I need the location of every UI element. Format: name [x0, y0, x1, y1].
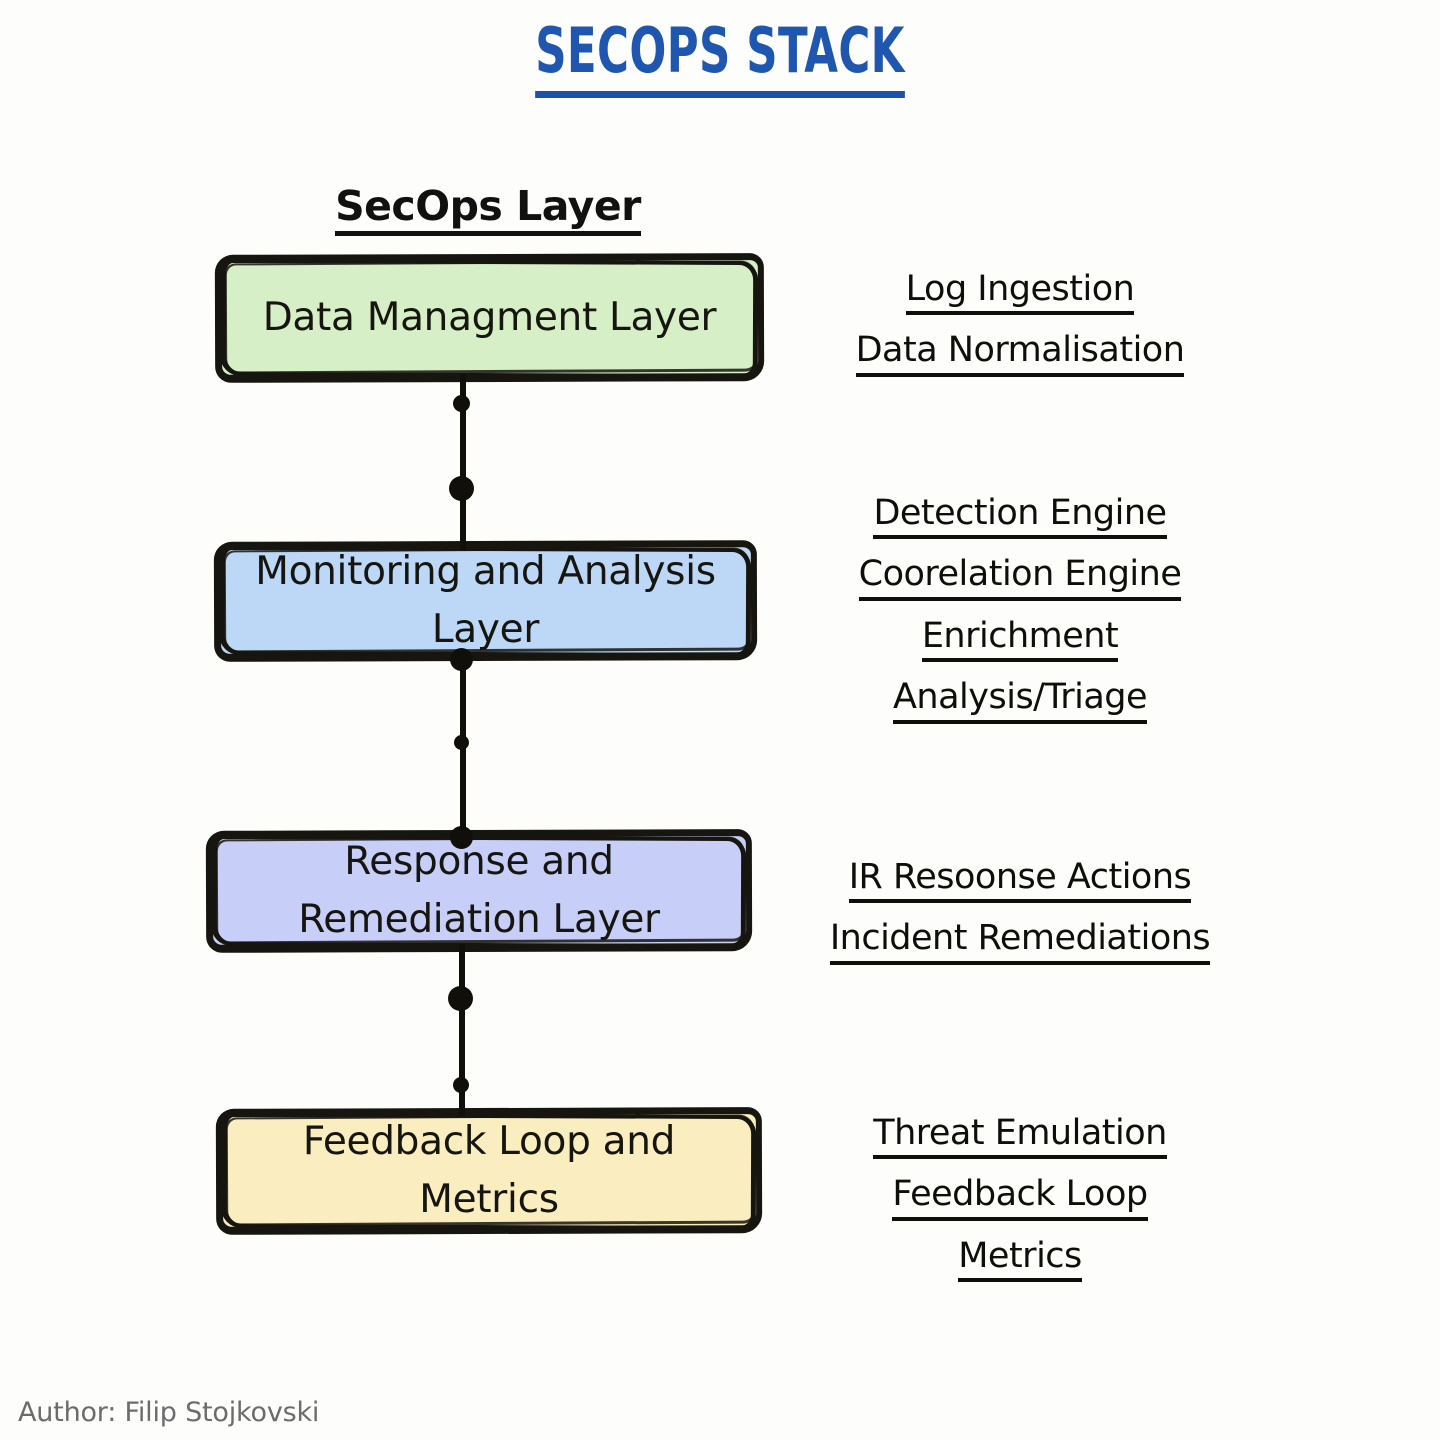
node-feedback-loop-and-metrics[interactable]: Feedback Loop and Metrics [220, 1112, 758, 1230]
column-heading: SecOps Layer [213, 182, 763, 236]
node-response-and-remediation-layer[interactable]: Response and Remediation Layer [210, 834, 748, 948]
diagram-canvas: SECOPS STACK SecOps Layer Data Managment… [0, 0, 1440, 1440]
capability-group-feedback-metrics: Threat Emulation Feedback Loop Metrics [820, 1112, 1220, 1282]
node-monitoring-and-analysis-layer[interactable]: Monitoring and Analysis Layer [218, 545, 753, 657]
capability-item: Metrics [958, 1235, 1082, 1282]
capability-item: Feedback Loop [892, 1173, 1147, 1220]
column-heading-text: SecOps Layer [335, 182, 641, 236]
node-data-management-layer[interactable]: Data Managment Layer [219, 258, 760, 378]
capability-item: Enrichment [922, 615, 1118, 662]
capability-group-data-management: Log Ingestion Data Normalisation [820, 268, 1220, 377]
connector-dot [453, 395, 470, 412]
capability-item: Analysis/Triage [893, 676, 1147, 723]
capability-group-response-remediation: IR Resoonse Actions Incident Remediation… [820, 856, 1220, 965]
capability-group-monitoring-analysis: Detection Engine Coorelation Engine Enri… [820, 492, 1220, 724]
node-label: Response and Remediation Layer [210, 833, 748, 948]
node-label: Data Managment Layer [251, 289, 729, 347]
capability-item: Detection Engine [873, 492, 1166, 539]
connector-dot [448, 986, 473, 1011]
author-credit: Author: Filip Stojkovski [18, 1397, 319, 1428]
capability-item: Threat Emulation [873, 1112, 1167, 1159]
capability-item: IR Resoonse Actions [849, 856, 1192, 903]
page-title: SECOPS STACK [158, 14, 1281, 98]
capability-item: Incident Remediations [830, 917, 1210, 964]
connector-dot [449, 476, 474, 501]
page-title-text: SECOPS STACK [535, 14, 905, 98]
node-label: Monitoring and Analysis Layer [239, 543, 733, 658]
capability-item: Log Ingestion [906, 268, 1135, 315]
capability-item: Coorelation Engine [859, 553, 1182, 600]
connector-dot [454, 735, 469, 750]
node-label: Feedback Loop and Metrics [277, 1113, 701, 1228]
connector-dot [453, 1077, 469, 1093]
capability-item: Data Normalisation [856, 329, 1185, 376]
